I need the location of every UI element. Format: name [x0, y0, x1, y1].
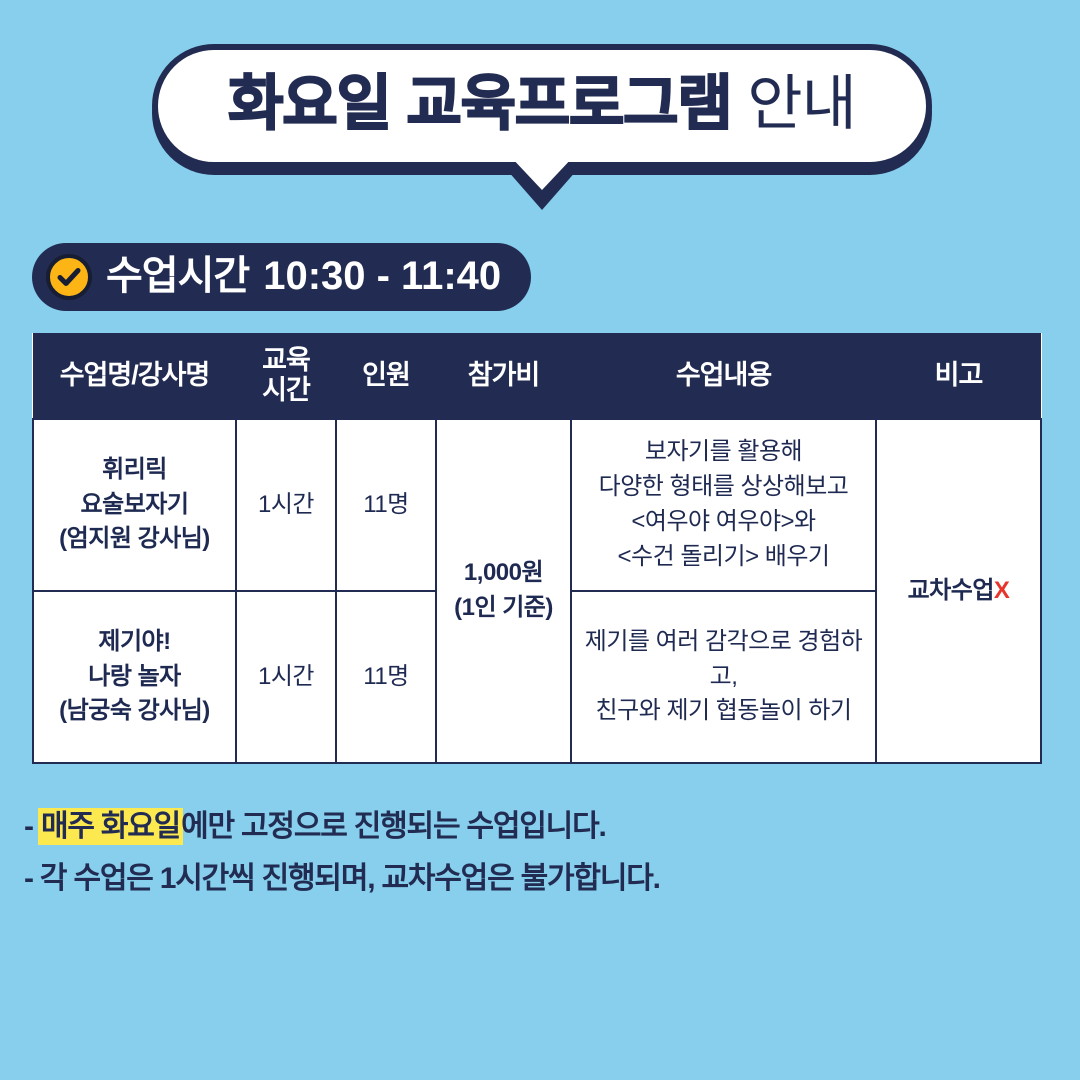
- remarks-x-mark: X: [994, 577, 1010, 604]
- class-content-line2: 친구와 제기 협동놀이 하기: [596, 697, 852, 724]
- fee-basis: (1인 기준): [454, 594, 553, 621]
- page-title-light: 안내: [732, 70, 856, 137]
- class-time-badge: 수업시간 10:30 - 11:40: [32, 243, 531, 311]
- column-header-duration: 교육 시간: [236, 333, 336, 419]
- title-banner: 화요일 교육프로그램 안내: [152, 44, 932, 168]
- speech-bubble-tail-fill: [510, 156, 574, 190]
- column-header-fee: 참가비: [436, 333, 571, 419]
- page-title-strong: 화요일 교육프로그램: [228, 70, 731, 137]
- check-circle-icon: [46, 254, 92, 300]
- class-name-line1: 휘리릭: [102, 456, 167, 483]
- column-header-duration-line2: 시간: [262, 375, 310, 405]
- program-table: 수업명/강사명 교육 시간 인원 참가비 수업내용 비고 휘리릭 요술보자기 (…: [32, 333, 1042, 764]
- class-time-value: 10:30 - 11:40: [263, 256, 501, 299]
- class-instructor: (남궁숙 강사님): [59, 697, 210, 724]
- note-line-1-rest: 에만 고정으로 진행되는 수업입니다.: [181, 810, 606, 843]
- class-content-line1: 제기를 여러 감각으로 경험하고,: [585, 628, 862, 690]
- note-bullet: -: [24, 810, 40, 843]
- class-name-line1: 제기야!: [98, 628, 170, 655]
- class-time-label: 수업시간: [106, 256, 249, 299]
- class-instructor: (엄지원 강사님): [59, 525, 210, 552]
- cell-class-content: 제기를 여러 감각으로 경험하고, 친구와 제기 협동놀이 하기: [571, 591, 876, 763]
- class-content-line2: 다양한 형태를 상상해보고: [599, 473, 849, 500]
- cell-class-name: 제기야! 나랑 놀자 (남궁숙 강사님): [33, 591, 236, 763]
- note-line-2: - 각 수업은 1시간씩 진행되며, 교차수업은 불가합니다.: [24, 864, 1024, 894]
- column-header-content: 수업내용: [571, 333, 876, 419]
- class-name-line2: 요술보자기: [81, 491, 189, 518]
- class-content-line3: <여우야 여우야>와: [631, 508, 815, 535]
- cell-capacity: 11명: [336, 591, 436, 763]
- column-header-remarks: 비고: [876, 333, 1041, 419]
- cell-duration: 1시간: [236, 419, 336, 591]
- cell-fee: 1,000원 (1인 기준): [436, 419, 571, 763]
- table-header-row: 수업명/강사명 교육 시간 인원 참가비 수업내용 비고: [33, 333, 1041, 419]
- class-content-line1: 보자기를 활용해: [645, 438, 802, 465]
- column-header-class-name: 수업명/강사명: [33, 333, 236, 419]
- cell-duration: 1시간: [236, 591, 336, 763]
- class-content-line4: <수건 돌리기> 배우기: [617, 543, 829, 570]
- table-row: 휘리릭 요술보자기 (엄지원 강사님) 1시간 11명 1,000원 (1인 기…: [33, 419, 1041, 591]
- cell-class-content: 보자기를 활용해 다양한 형태를 상상해보고 <여우야 여우야>와 <수건 돌리…: [571, 419, 876, 591]
- note-line-1: - 매주 화요일에만 고정으로 진행되는 수업입니다.: [24, 812, 1024, 842]
- cell-capacity: 11명: [336, 419, 436, 591]
- remarks-text: 교차수업: [908, 577, 994, 604]
- note-highlight-every-tuesday: 매주 화요일: [40, 810, 181, 843]
- column-header-capacity: 인원: [336, 333, 436, 419]
- column-header-duration-line1: 교육: [262, 345, 310, 375]
- page-title: 화요일 교육프로그램 안내: [228, 74, 856, 138]
- footer-notes: - 매주 화요일에만 고정으로 진행되는 수업입니다. - 각 수업은 1시간씩…: [24, 812, 1024, 916]
- cell-class-name: 휘리릭 요술보자기 (엄지원 강사님): [33, 419, 236, 591]
- cell-remarks: 교차수업X: [876, 419, 1041, 763]
- fee-amount: 1,000원: [464, 559, 543, 586]
- title-bubble: 화요일 교육프로그램 안내: [152, 44, 932, 168]
- class-name-line2: 나랑 놀자: [88, 663, 181, 690]
